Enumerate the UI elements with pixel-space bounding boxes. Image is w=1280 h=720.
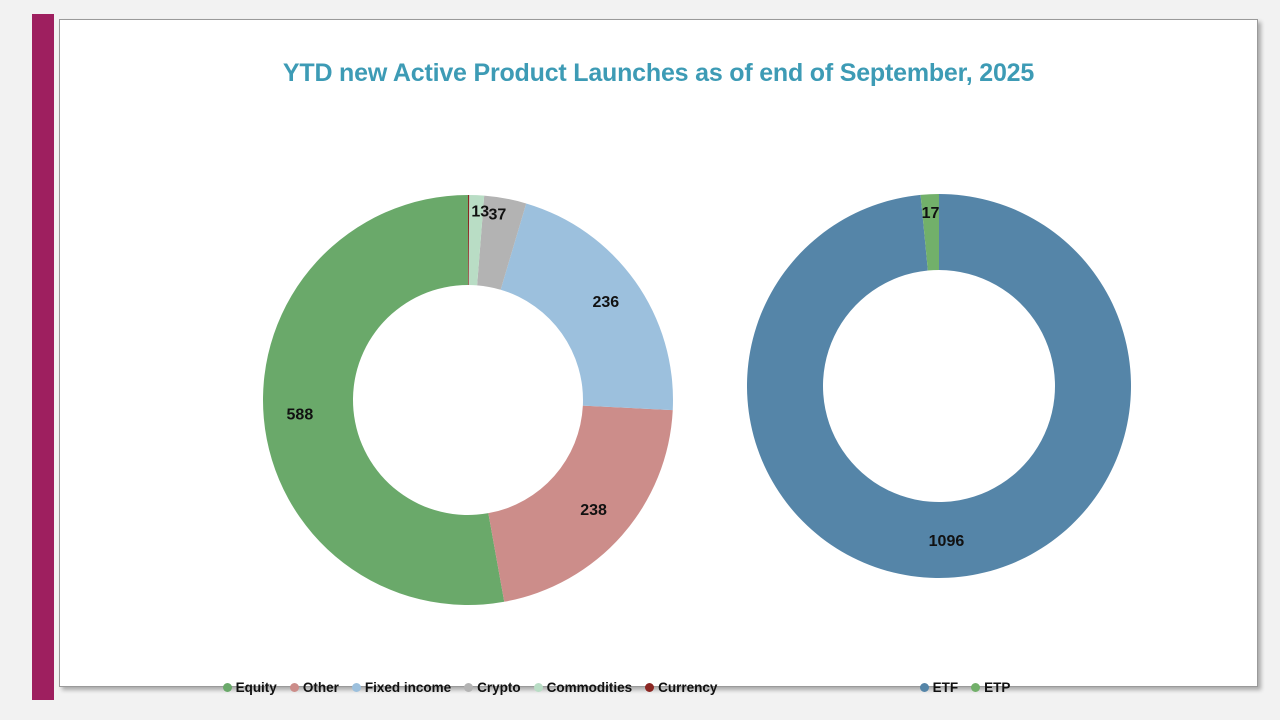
- donut-slice-label: 588: [287, 407, 314, 424]
- slide-accent-bar: [32, 14, 54, 700]
- legend-item-label: ETP: [984, 681, 1010, 695]
- legend-item-etf[interactable]: ETF: [920, 681, 959, 695]
- donut-slice-label: 13: [471, 203, 489, 220]
- legend-color-swatch-icon: [290, 683, 299, 692]
- donut-slice-label: 37: [489, 207, 507, 224]
- legend-item-etp[interactable]: ETP: [971, 681, 1010, 695]
- legend-item-label: Currency: [658, 681, 717, 695]
- legend-item-label: Other: [303, 681, 339, 695]
- legend-color-swatch-icon: [645, 683, 654, 692]
- legend-color-swatch-icon: [352, 683, 361, 692]
- legend-color-swatch-icon: [223, 683, 232, 692]
- donut-chart-product-type: 5882382363713: [260, 188, 680, 612]
- legend-color-swatch-icon: [464, 683, 473, 692]
- legend-item-other[interactable]: Other: [290, 681, 339, 695]
- donut-slice-label: 1096: [929, 533, 965, 550]
- legend-color-swatch-icon: [534, 683, 543, 692]
- legend-item-label: ETF: [933, 681, 959, 695]
- donut-chart-wrapper-type: 109617: [742, 188, 1138, 584]
- legend-product-type: EquityOtherFixed incomeCryptoCommodities…: [150, 681, 790, 695]
- legend-wrapper-type: ETFETP: [800, 681, 1130, 695]
- page-title: YTD new Active Product Launches as of en…: [60, 59, 1257, 88]
- legend-color-swatch-icon: [971, 683, 980, 692]
- legend-item-equity[interactable]: Equity: [223, 681, 277, 695]
- donut-slice-label: 236: [593, 294, 620, 311]
- donut-slice-label: 17: [922, 205, 940, 222]
- legend-item-label: Commodities: [547, 681, 633, 695]
- legend-item-commodities[interactable]: Commodities: [534, 681, 633, 695]
- donut-left-svg: 5882382363713: [260, 188, 680, 612]
- legend-color-swatch-icon: [920, 683, 929, 692]
- legend-item-crypto[interactable]: Crypto: [464, 681, 521, 695]
- donut-right-svg: 109617: [742, 188, 1138, 584]
- legend-item-currency[interactable]: Currency: [645, 681, 717, 695]
- legend-item-fixed-income[interactable]: Fixed income: [352, 681, 451, 695]
- legend-item-label: Fixed income: [365, 681, 451, 695]
- legend-item-label: Equity: [236, 681, 277, 695]
- donut-slice-label: 238: [580, 502, 607, 519]
- donut-slice[interactable]: [501, 203, 673, 410]
- legend-item-label: Crypto: [477, 681, 521, 695]
- slide-card: YTD new Active Product Launches as of en…: [59, 19, 1258, 687]
